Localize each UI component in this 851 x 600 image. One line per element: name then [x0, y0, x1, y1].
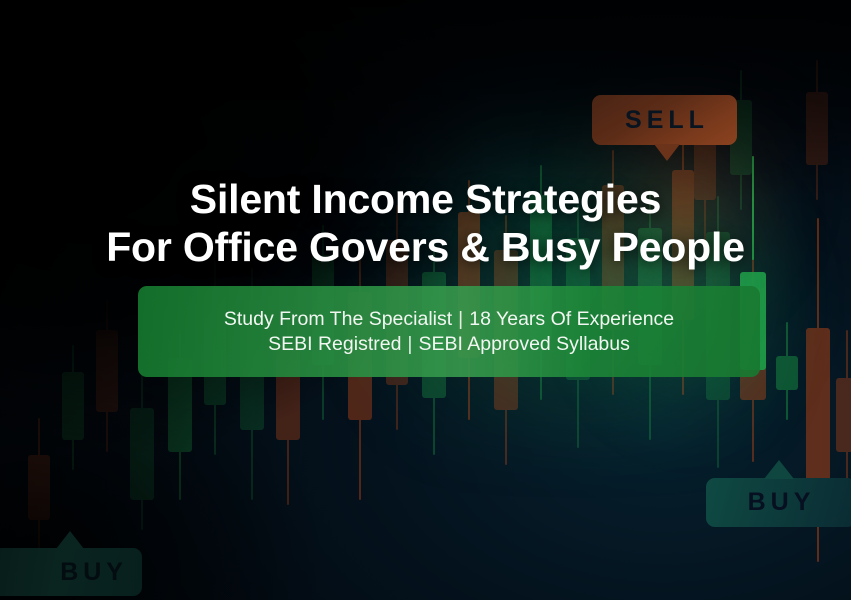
sell-badge: SELL [592, 95, 737, 145]
sell-badge-label: SELL [620, 106, 709, 135]
credentials-separator-1: | [452, 308, 469, 330]
headline: Silent Income Strategies For Office Gove… [0, 175, 851, 271]
credentials-banner: Study From The Specialist|18 Years Of Ex… [138, 286, 760, 377]
sell-badge-pointer-down-icon [654, 144, 680, 161]
credentials-years-experience: 18 Years Of Experience [469, 308, 674, 330]
buy-badge-left: BUY [0, 548, 142, 596]
credentials-banner-line-1: Study From The Specialist|18 Years Of Ex… [224, 307, 674, 332]
buy-badge-left-pointer-up-icon [56, 531, 84, 549]
buy-badge-left-label: BUY [55, 558, 128, 587]
buy-badge-right-label: BUY [743, 488, 816, 517]
headline-line-1: Silent Income Strategies [190, 176, 661, 222]
promo-banner-canvas: SELL Silent Income Strategies For Office… [0, 0, 851, 600]
credentials-sebi-registred: SEBI Registred [268, 333, 401, 355]
buy-badge-right-pointer-up-icon [764, 460, 794, 479]
credentials-sebi-approved-syllabus: SEBI Approved Syllabus [419, 333, 630, 355]
credentials-separator-2: | [401, 333, 418, 355]
buy-badge-right: BUY [706, 478, 851, 527]
credentials-study-from-specialist: Study From The Specialist [224, 308, 452, 330]
credentials-banner-line-2: SEBI Registred|SEBI Approved Syllabus [268, 332, 630, 357]
headline-line-2: For Office Govers & Busy People [0, 223, 851, 271]
